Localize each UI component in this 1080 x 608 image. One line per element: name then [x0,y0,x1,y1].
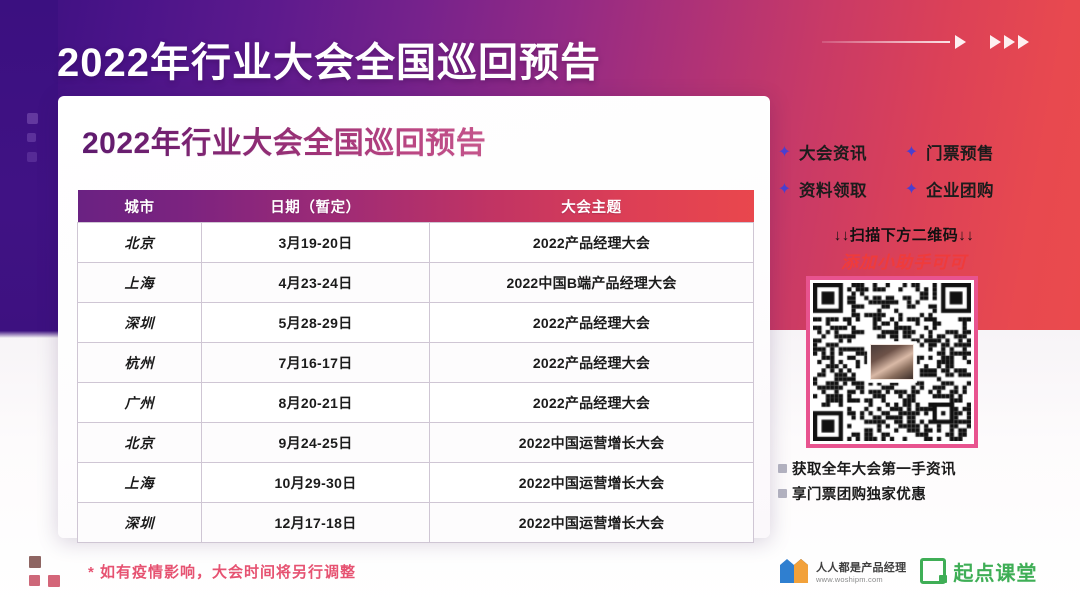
cell-city: 深圳 [78,503,202,543]
benefit-item-news: 获取全年大会第一手资讯 [778,458,1028,479]
square-bullet-icon [778,464,787,473]
decorative-square-icon [29,556,41,568]
slide-canvas: 2022年行业大会全国巡回预告 2022年行业大会全国巡回预告 城市 日期（暂定… [0,0,1080,608]
decorative-square-icon [27,113,38,124]
cell-date: 9月24-25日 [202,423,430,463]
benefit-label: 享门票团购独家优惠 [792,483,926,504]
cell-topic: 2022中国运营增长大会 [430,463,754,503]
cell-topic: 2022中国B端产品经理大会 [430,263,754,303]
page-title: 2022年行业大会全国巡回预告 [57,30,601,88]
benefit-label: 获取全年大会第一手资讯 [792,458,956,479]
play-triangle-icon [1004,35,1015,49]
play-triangle-icon [955,35,966,49]
brand-primary-text: 人人都是产品经理 www.woshipm.com [816,559,906,584]
column-header-topic: 大会主题 [430,190,754,223]
cell-city: 上海 [78,463,202,503]
sparkle-icon: ✦ [903,181,920,198]
cell-city: 北京 [78,223,202,263]
cell-date: 8月20-21日 [202,383,430,423]
decorative-square-icon [27,133,36,142]
cell-topic: 2022中国运营增长大会 [430,423,754,463]
decorative-square-icon [29,575,40,586]
sparkle-icon: ✦ [903,144,920,161]
feature-item-group-buy[interactable]: ✦ 企业团购 [903,177,1030,201]
column-header-date: 日期（暂定） [202,190,430,223]
brand-secondary-name: 起点课堂 [953,557,1037,586]
table-row: 深圳 5月28-29日 2022产品经理大会 [78,303,754,343]
wechat-qr-code[interactable] [806,276,978,448]
cell-city: 广州 [78,383,202,423]
feature-item-materials[interactable]: ✦ 资料领取 [776,177,903,201]
cell-date: 10月29-30日 [202,463,430,503]
feature-label: 大会资讯 [799,140,867,164]
schedule-table: 城市 日期（暂定） 大会主题 北京 3月19-20日 2022产品经理大会 上海… [77,190,754,543]
feature-row: ✦ 资料领取 ✦ 企业团购 [776,177,1030,201]
cell-city: 深圳 [78,303,202,343]
assistant-avatar [870,344,914,380]
play-triangle-icon [1018,35,1029,49]
cell-topic: 2022产品经理大会 [430,303,754,343]
scan-hint-text: ↓↓扫描下方二维码↓↓ [782,224,1026,245]
header-arrow-decoration [822,32,1032,52]
schedule-card: 2022年行业大会全国巡回预告 城市 日期（暂定） 大会主题 北京 3月19-2… [58,96,770,538]
square-bullet-icon [778,489,787,498]
cell-topic: 2022产品经理大会 [430,383,754,423]
cell-date: 4月23-24日 [202,263,430,303]
sparkle-icon: ✦ [776,144,793,161]
table-row: 深圳 12月17-18日 2022中国运营增长大会 [78,503,754,543]
play-triangle-icon [990,35,1001,49]
table-row: 上海 4月23-24日 2022中国B端产品经理大会 [78,263,754,303]
assistant-name-text: 添加小助手可可 [782,248,1026,273]
woshipm-logo-icon [778,557,810,585]
brand-secondary: 起点课堂 [920,557,1037,586]
cell-date: 7月16-17日 [202,343,430,383]
schedule-table-body: 北京 3月19-20日 2022产品经理大会 上海 4月23-24日 2022中… [78,223,754,543]
benefit-item-discount: 享门票团购独家优惠 [778,483,1028,504]
footer-disclaimer: * 如有疫情影响，大会时间将另行调整 [88,561,356,582]
cell-date: 5月28-29日 [202,303,430,343]
table-header-row: 城市 日期（暂定） 大会主题 [78,190,754,223]
feature-item-conference-news[interactable]: ✦ 大会资讯 [776,140,903,164]
table-row: 北京 9月24-25日 2022中国运营增长大会 [78,423,754,463]
deco-line [822,41,950,43]
left-purple-band [0,0,58,336]
feature-item-ticket-presale[interactable]: ✦ 门票预售 [903,140,1030,164]
table-row: 上海 10月29-30日 2022中国运营增长大会 [78,463,754,503]
band-notch [0,322,58,338]
feature-label: 企业团购 [926,177,994,201]
cell-date: 12月17-18日 [202,503,430,543]
table-row: 广州 8月20-21日 2022产品经理大会 [78,383,754,423]
cell-topic: 2022产品经理大会 [430,343,754,383]
cell-topic: 2022产品经理大会 [430,223,754,263]
cell-date: 3月19-20日 [202,223,430,263]
brand-primary-name: 人人都是产品经理 [816,559,906,575]
card-title: 2022年行业大会全国巡回预告 [82,118,486,162]
decorative-square-icon [27,152,37,162]
cell-topic: 2022中国运营增长大会 [430,503,754,543]
promo-sidebar: ✦ 大会资讯 ✦ 门票预售 ✦ 资料领取 ✦ 企业团购 ↓↓扫描下方二维 [768,130,1038,520]
cell-city: 北京 [78,423,202,463]
cell-city: 杭州 [78,343,202,383]
column-header-city: 城市 [78,190,202,223]
decorative-square-icon [48,575,60,587]
qidian-logo-icon [920,558,946,584]
cell-city: 上海 [78,263,202,303]
feature-label: 门票预售 [926,140,994,164]
brand-logos: 人人都是产品经理 www.woshipm.com 起点课堂 [778,552,1064,590]
brand-primary-url: www.woshipm.com [816,575,906,584]
feature-list: ✦ 大会资讯 ✦ 门票预售 ✦ 资料领取 ✦ 企业团购 [776,140,1030,214]
feature-row: ✦ 大会资讯 ✦ 门票预售 [776,140,1030,164]
feature-label: 资料领取 [799,177,867,201]
table-row: 杭州 7月16-17日 2022产品经理大会 [78,343,754,383]
table-row: 北京 3月19-20日 2022产品经理大会 [78,223,754,263]
sparkle-icon: ✦ [776,181,793,198]
